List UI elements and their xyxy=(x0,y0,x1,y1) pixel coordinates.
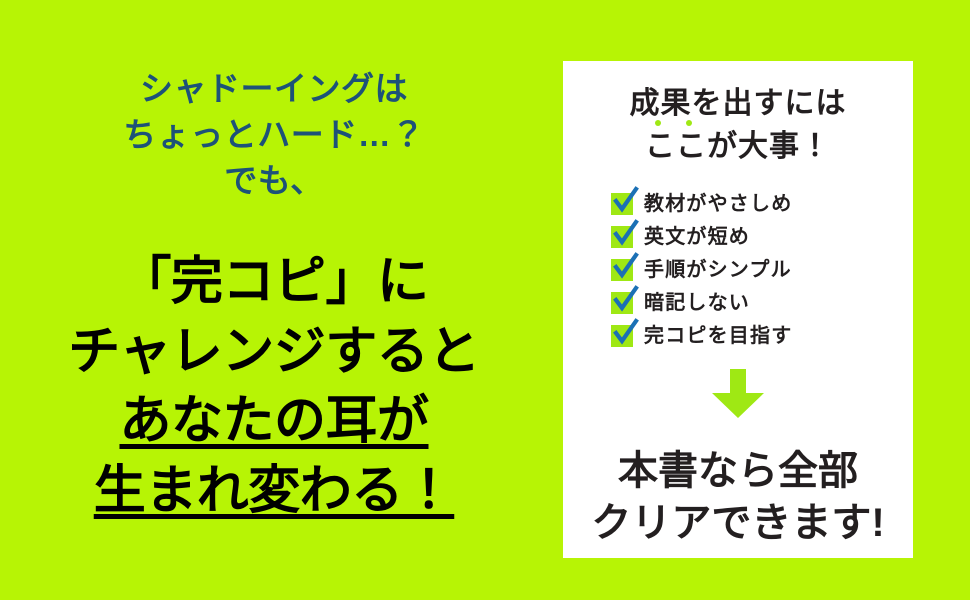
checklist-item-label: 暗記しない xyxy=(644,293,750,313)
checkmark-icon xyxy=(611,193,633,215)
panel-heading: 成果を出すには ここが大事！ xyxy=(563,83,913,168)
intro-line-3: でも、 xyxy=(0,158,548,204)
checkmark-icon xyxy=(611,259,633,281)
intro-text-block: シャドーイングは ちょっとハード…？ でも、 xyxy=(0,66,548,205)
headline-line-3: あなたの耳が xyxy=(0,387,548,457)
left-text-column: シャドーイングは ちょっとハード…？ でも、 「完コピ」に チャレンジすると あ… xyxy=(0,0,548,600)
headline-line-4: 生まれ変わる！ xyxy=(0,457,548,527)
emphasis-dot-icon xyxy=(686,120,692,126)
panel-heading-line-2: ここが大事！ xyxy=(563,126,913,169)
list-item: 英文が短め xyxy=(611,220,901,253)
intro-line-2: ちょっとハード…？ xyxy=(0,112,548,158)
emphasis-phrase: ここ xyxy=(645,126,707,169)
list-item: 教材がやさしめ xyxy=(611,187,901,220)
feature-checklist: 教材がやさしめ 英文が短め 手順がシンプル xyxy=(611,187,901,352)
checkmark-icon xyxy=(611,325,633,347)
checkmark-icon xyxy=(611,292,633,314)
panel-heading-line-1: 成果を出すには xyxy=(563,83,913,126)
checklist-item-label: 完コピを目指す xyxy=(644,326,792,346)
headline-text-block: 「完コピ」に チャレンジすると あなたの耳が 生まれ変わる！ xyxy=(0,248,548,527)
list-item: 暗記しない xyxy=(611,286,901,319)
emphasis-dot-icon xyxy=(655,120,661,126)
emphasis-phrase-text: ここ xyxy=(645,130,707,163)
list-item: 完コピを目指す xyxy=(611,319,901,352)
headline-line-2: チャレンジすると xyxy=(0,318,548,388)
intro-line-1: シャドーイングは xyxy=(0,66,548,112)
conclusion-line-1: 本書なら全部 xyxy=(563,445,913,497)
list-item: 手順がシンプル xyxy=(611,253,901,286)
promotional-banner: シャドーイングは ちょっとハード…？ でも、 「完コピ」に チャレンジすると あ… xyxy=(0,0,970,600)
checklist-item-label: 手順がシンプル xyxy=(644,260,792,280)
checklist-item-label: 教材がやさしめ xyxy=(644,194,792,214)
checklist-item-label: 英文が短め xyxy=(644,227,750,247)
feature-checklist-panel: 成果を出すには ここが大事！ 教材がやさしめ 英文が短め xyxy=(563,61,913,558)
panel-conclusion: 本書なら全部 クリアできます! xyxy=(563,445,913,549)
down-arrow-icon xyxy=(563,369,913,419)
panel-heading-line-2-rest: が大事！ xyxy=(707,130,831,163)
checkmark-icon xyxy=(611,226,633,248)
headline-line-1: 「完コピ」に xyxy=(0,248,548,318)
conclusion-line-2: クリアできます! xyxy=(563,497,913,549)
